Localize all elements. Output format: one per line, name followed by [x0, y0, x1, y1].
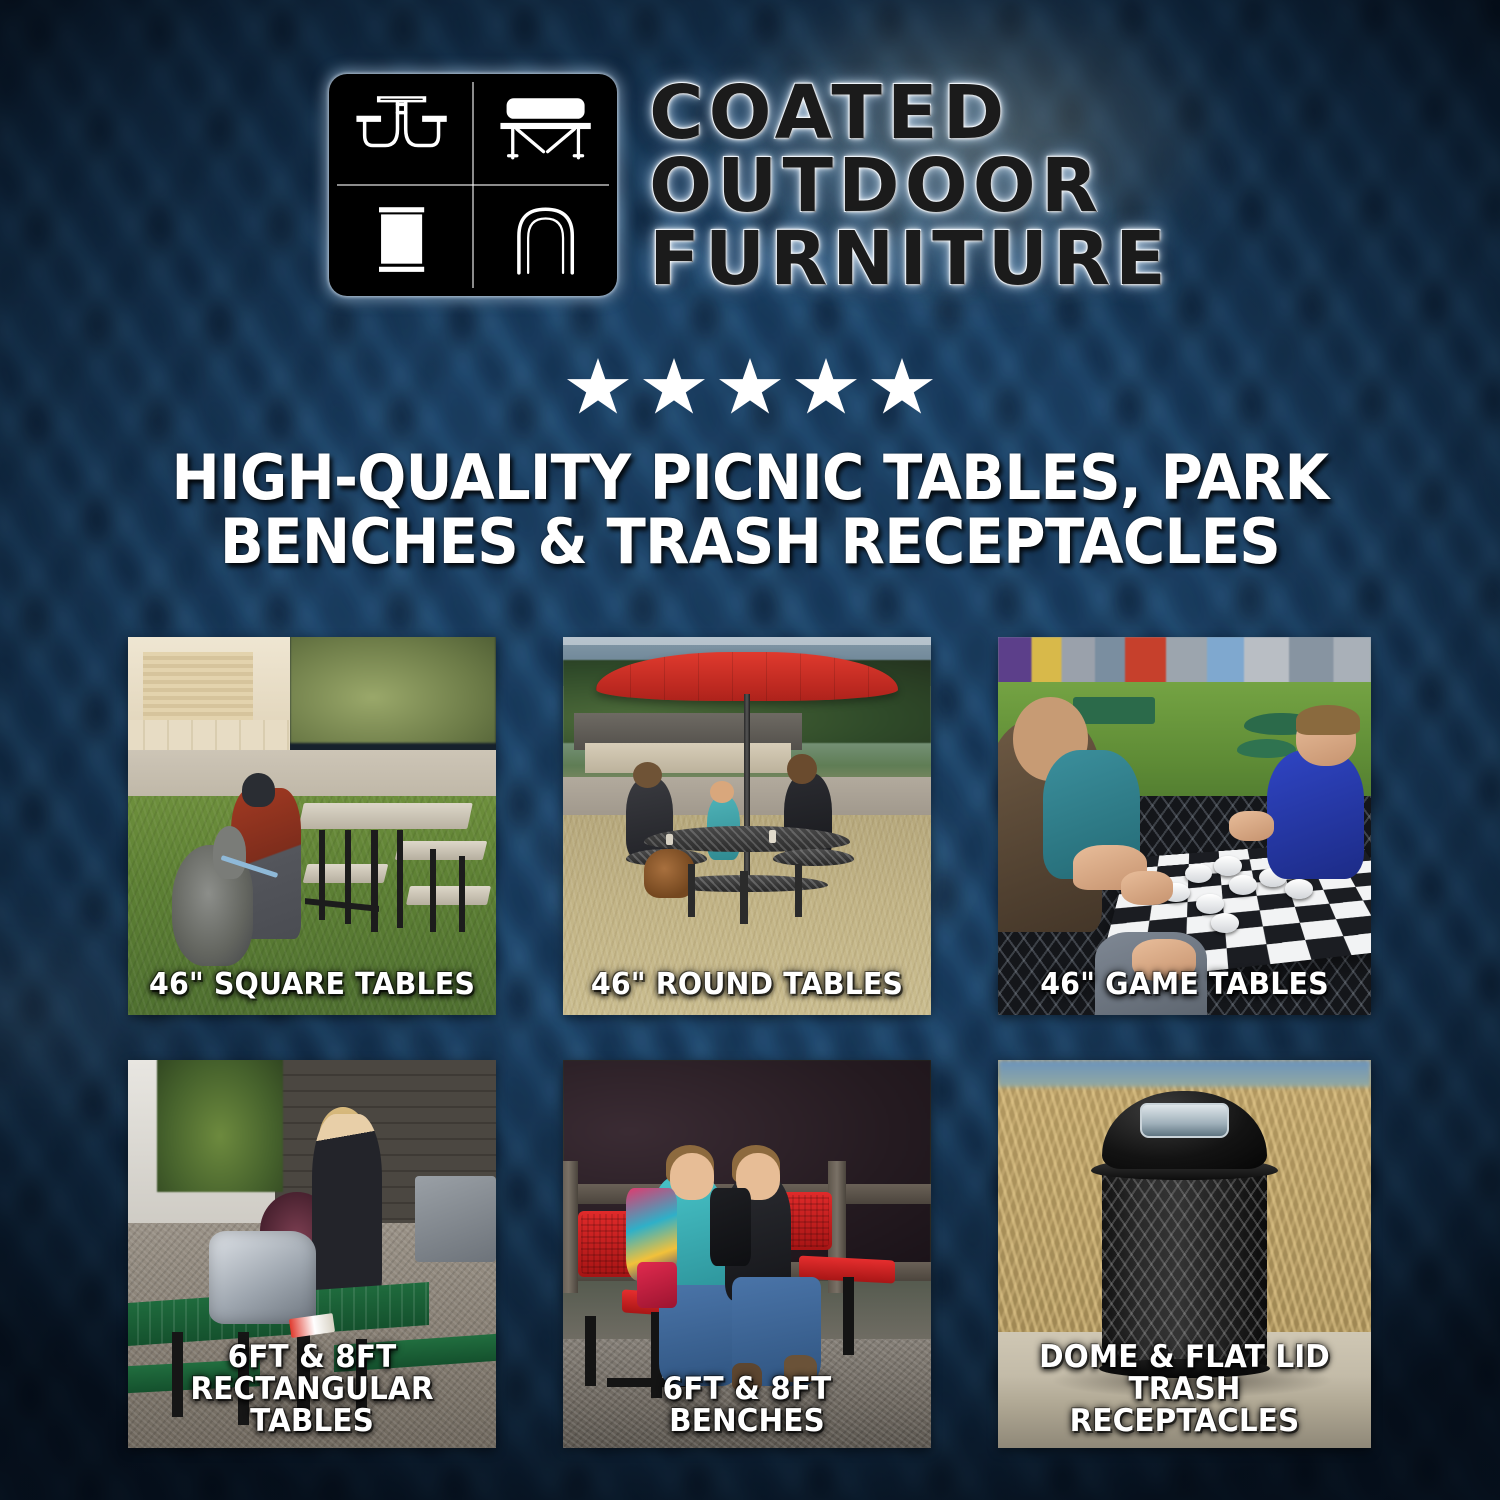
product-caption-square-tables: 46" SQUARE TABLES [137, 970, 487, 1001]
star-icon [643, 358, 705, 418]
headline-line-2: BENCHES & TRASH RECEPTACLES [118, 510, 1383, 574]
product-caption-benches: 6FT & 8FT BENCHES [572, 1374, 922, 1438]
brand-word-outdoor: OUTDOOR [649, 151, 1171, 222]
caption-line-1: 6FT & 8FT [143, 1342, 481, 1374]
caption-line-1: 46" ROUND TABLES [578, 970, 916, 1001]
caption-line-1: 46" GAME TABLES [1013, 970, 1356, 1001]
caption-line-2: RECTANGULAR TABLES [143, 1374, 481, 1438]
product-tile-rectangular-tables[interactable]: 6FT & 8FT RECTANGULAR TABLES [128, 1060, 496, 1448]
product-photo-round-tables [563, 637, 931, 1015]
product-tile-benches[interactable]: 6FT & 8FT BENCHES [563, 1060, 931, 1448]
product-photo-game-tables [998, 637, 1371, 1015]
picnic-table-front-icon [329, 74, 473, 185]
product-caption-rectangular-tables: 6FT & 8FT RECTANGULAR TABLES [137, 1342, 487, 1438]
product-tile-trash-receptacles[interactable]: DOME & FLAT LID TRASH RECEPTACLES [998, 1060, 1371, 1448]
bench-side-icon [473, 74, 617, 185]
brand-word-coated: COATED [649, 78, 1171, 149]
product-grid: 46" SQUARE TABLES [128, 637, 1373, 1448]
marketing-poster: COATED OUTDOOR FURNITURE HIGH-QUALITY PI… [0, 0, 1500, 1500]
caption-line-1: DOME & FLAT LID [1013, 1342, 1356, 1374]
bike-rack-arch-icon [473, 185, 617, 296]
star-icon [871, 358, 933, 418]
logo-icon-grid [329, 74, 617, 296]
product-tile-game-tables[interactable]: 46" GAME TABLES [998, 637, 1371, 1015]
product-caption-round-tables: 46" ROUND TABLES [572, 970, 922, 1001]
caption-line-2: TRASH RECEPTACLES [1013, 1374, 1356, 1438]
product-caption-game-tables: 46" GAME TABLES [1007, 970, 1361, 1001]
star-icon [795, 358, 857, 418]
caption-line-1: 6FT & 8FT [578, 1374, 916, 1406]
brand-word-furniture: FURNITURE [649, 224, 1171, 295]
brand-wordmark: COATED OUTDOOR FURNITURE [649, 74, 1171, 295]
brand-logo: COATED OUTDOOR FURNITURE [0, 74, 1500, 296]
trash-receptacle-icon [329, 185, 473, 296]
product-tile-round-tables[interactable]: 46" ROUND TABLES [563, 637, 931, 1015]
caption-line-2: BENCHES [578, 1406, 916, 1438]
product-caption-trash-receptacles: DOME & FLAT LID TRASH RECEPTACLES [1007, 1342, 1361, 1438]
product-photo-square-tables [128, 637, 496, 1015]
caption-line-1: 46" SQUARE TABLES [143, 970, 481, 1001]
star-rating [0, 358, 1500, 418]
star-icon [567, 358, 629, 418]
star-icon [719, 358, 781, 418]
product-tile-square-tables[interactable]: 46" SQUARE TABLES [128, 637, 496, 1015]
headline-line-1: HIGH-QUALITY PICNIC TABLES, PARK [118, 446, 1383, 510]
headline: HIGH-QUALITY PICNIC TABLES, PARK BENCHES… [118, 446, 1383, 574]
